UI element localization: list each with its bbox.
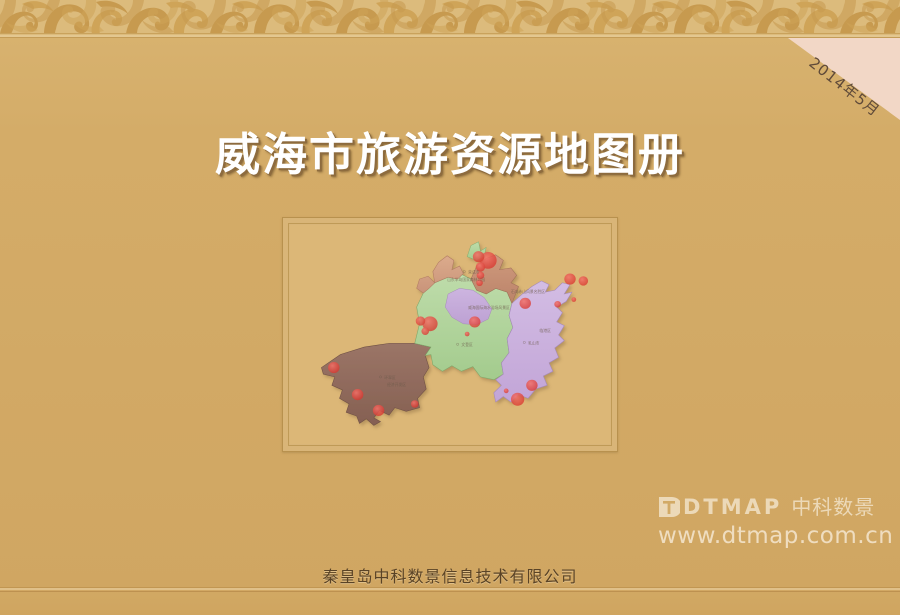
footer-company-name: 秦皇岛中科数景信息技术有限公司	[0, 563, 900, 587]
weihai-region-map: 荣成市 山东半岛国家森林公园 威海国际海水浴场风景区 文登区 乳山市 石岛赤山风…	[290, 225, 610, 444]
footer-rule-lower	[0, 591, 900, 592]
svg-text:石岛赤山风景名胜区: 石岛赤山风景名胜区	[511, 289, 545, 294]
svg-text:环翠区: 环翠区	[384, 376, 396, 380]
scrollwork-pattern-icon	[0, 0, 900, 34]
svg-text:乳山市: 乳山市	[528, 340, 540, 345]
svg-text:文登区: 文登区	[461, 342, 473, 347]
watermark-logo: DTMAP 中科数景 www.dtmap.com.cn	[658, 494, 890, 550]
svg-text:荣成市: 荣成市	[468, 270, 480, 275]
date-corner-ribbon: 2014年5月	[788, 38, 900, 120]
cover-page: 2014年5月 威海市旅游资源地图册	[0, 0, 900, 615]
svg-text:经济开发区: 经济开发区	[387, 382, 406, 387]
page-title: 威海市旅游资源地图册	[0, 118, 900, 183]
band-rule-lower	[0, 37, 900, 38]
svg-text:山东半岛国家森林公园: 山东半岛国家森林公园	[447, 277, 485, 282]
ornamental-border-top	[0, 0, 900, 38]
footer-rule-highlight	[0, 588, 900, 590]
svg-text:威海国际海水浴场风景区: 威海国际海水浴场风景区	[468, 305, 510, 310]
footer-band	[0, 587, 900, 615]
watermark-brand-cn: 中科数景	[791, 496, 875, 518]
watermark-url: www.dtmap.com.cn	[658, 523, 890, 549]
watermark-brand-en: DTMAP	[683, 496, 782, 518]
watermark-brand-row: DTMAP 中科数景	[658, 494, 890, 520]
dtmap-logo-icon	[658, 496, 680, 518]
map-thumbnail-frame[interactable]: 荣成市 山东半岛国家森林公园 威海国际海水浴场风景区 文登区 乳山市 石岛赤山风…	[282, 217, 618, 452]
svg-text:临港区: 临港区	[540, 328, 552, 333]
band-rule-upper	[0, 33, 900, 34]
